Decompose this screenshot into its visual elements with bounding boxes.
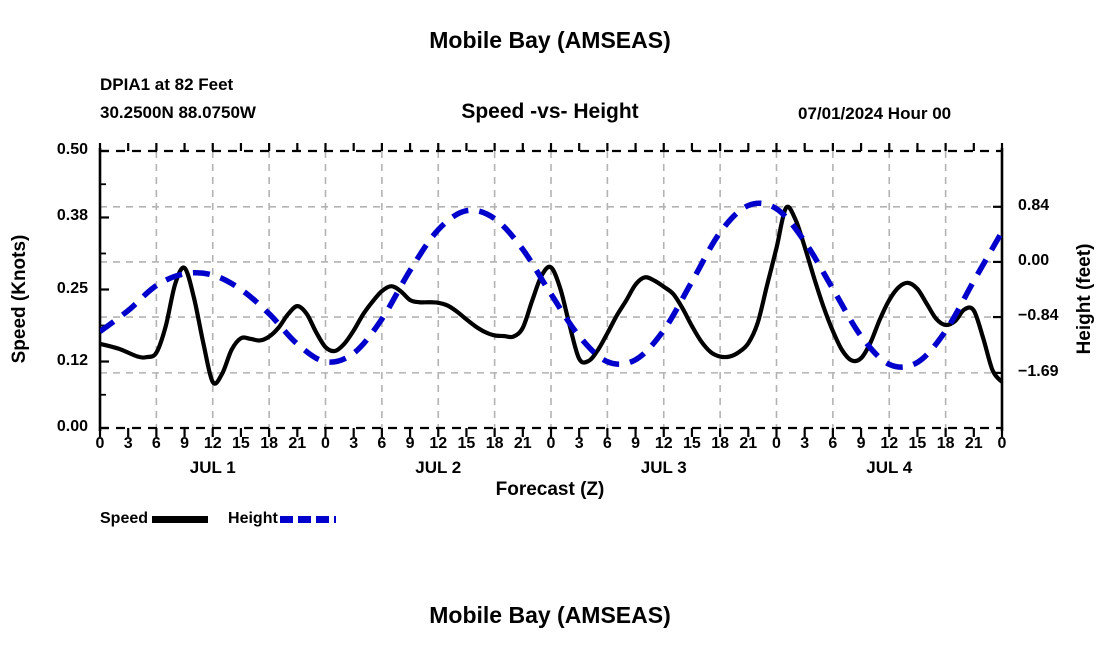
legend-label-height: Height: [228, 511, 278, 527]
legend-swatch-height: [280, 516, 336, 523]
gridlines: [100, 151, 1002, 428]
plot-area: [0, 0, 1100, 650]
legend-swatch-speed: [152, 516, 208, 523]
chart-canvas: Mobile Bay (AMSEAS) DPIA1 at 82 Feet 30.…: [0, 0, 1100, 650]
chart-legend: Speed Height: [100, 508, 336, 530]
tick-marks: [100, 143, 1002, 437]
legend-label-speed: Speed: [100, 511, 148, 527]
footer-title: Mobile Bay (AMSEAS): [0, 602, 1100, 629]
